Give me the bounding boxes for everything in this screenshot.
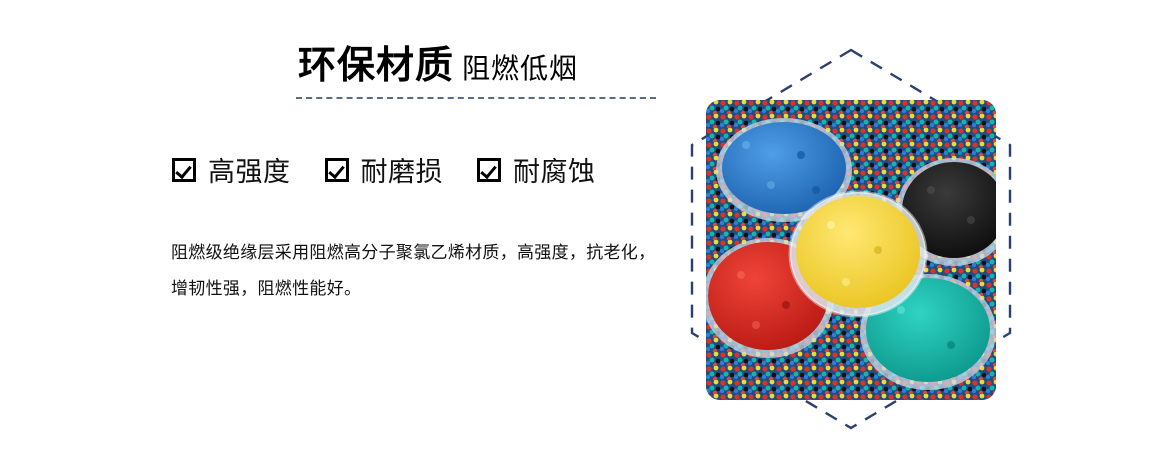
headline-secondary: 阻燃低烟 [462, 53, 578, 84]
feature-label: 耐腐蚀 [513, 150, 596, 189]
checked-box-icon [325, 158, 349, 182]
feature-label: 耐磨损 [361, 150, 444, 189]
title-dashed-divider [296, 97, 656, 99]
feature-item-wear-resistance: 耐磨损 [325, 150, 444, 189]
plastic-pellets-photo [706, 100, 996, 400]
text-column: 环保材质阻燃低烟 高强度 耐磨损 耐腐蚀 阻燃级绝缘层采用阻燃高分子聚氯乙烯材质… [0, 0, 690, 452]
headline-primary: 环保材质 [298, 45, 454, 87]
page-title: 环保材质阻燃低烟 [298, 47, 578, 85]
checked-box-icon [172, 158, 196, 182]
checked-box-icon [477, 158, 501, 182]
feature-item-strength: 高强度 [172, 150, 291, 189]
feature-label: 高强度 [208, 150, 291, 189]
product-feature-banner: 环保材质阻燃低烟 高强度 耐磨损 耐腐蚀 阻燃级绝缘层采用阻燃高分子聚氯乙烯材质… [0, 0, 1169, 452]
pellets-illustration [706, 100, 996, 400]
media-hexagon-frame [688, 46, 1014, 432]
feature-list: 高强度 耐磨损 耐腐蚀 [172, 150, 596, 189]
feature-item-corrosion-resistance: 耐腐蚀 [477, 150, 596, 189]
description-paragraph: 阻燃级绝缘层采用阻燃高分子聚氯乙烯材质，高强度，抗老化，增韧性强，阻燃性能好。 [171, 235, 671, 307]
